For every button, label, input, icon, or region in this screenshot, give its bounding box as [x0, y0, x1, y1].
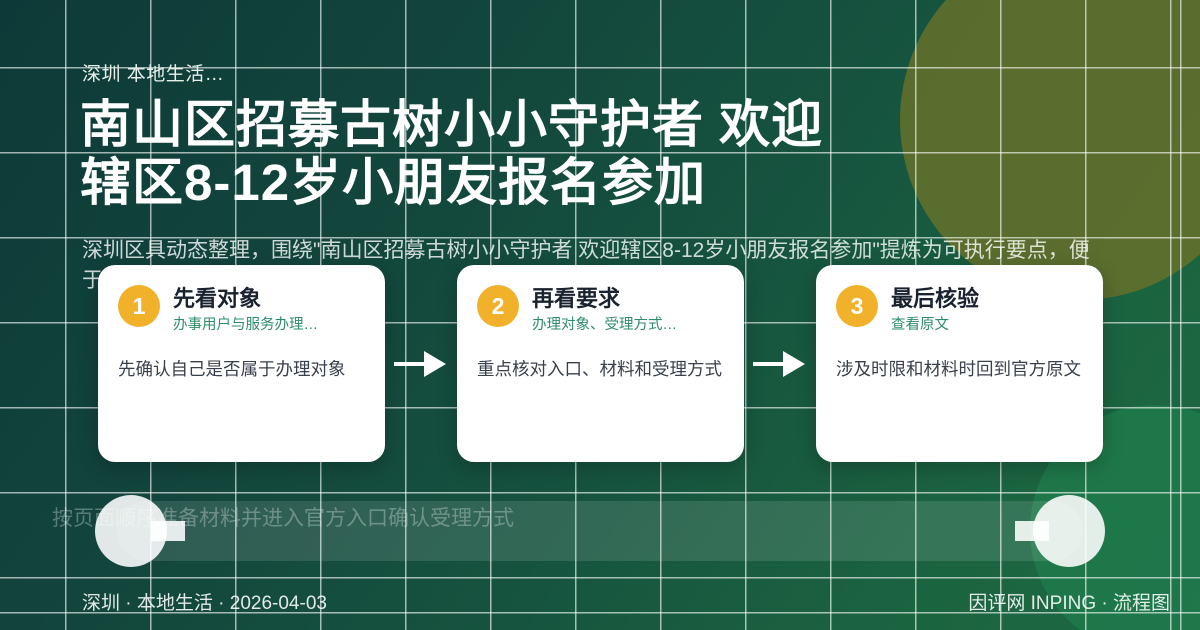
footer-meta-left: 深圳 · 本地生活 · 2026-04-03: [82, 588, 327, 615]
step-number-badge: 1: [118, 285, 160, 327]
step-number-badge: 2: [477, 285, 519, 327]
flow-connector-1: [385, 265, 457, 462]
step-body: 重点核对入口、材料和受理方式: [477, 357, 724, 382]
pill-knob-left: [95, 495, 167, 567]
summary-pill-bar: [95, 495, 1105, 567]
step-title: 先看对象: [173, 286, 318, 312]
step-body: 涉及时限和材料时回到官方原文: [836, 357, 1083, 382]
pill-knob-right: [1033, 495, 1105, 567]
card-heading-group: 最后核验 查看原文: [891, 285, 979, 335]
card-header: 3 最后核验 查看原文: [836, 285, 1083, 335]
card-header: 2 再看要求 办理对象、受理方式…: [477, 285, 724, 335]
arrow-right-icon: [394, 349, 448, 379]
arrow-right-icon: [753, 349, 807, 379]
flow-step-card-1[interactable]: 1 先看对象 办事用户与服务办理… 先确认自己是否属于办理对象: [98, 265, 385, 462]
flow-steps-row: 1 先看对象 办事用户与服务办理… 先确认自己是否属于办理对象 2 再看要求: [98, 265, 1103, 462]
step-title: 再看要求: [532, 286, 677, 312]
page-title: 南山区招募古树小小守护者 欢迎辖区8-12岁小朋友报名参加: [80, 96, 870, 211]
breadcrumb: 深圳 本地生活…: [82, 59, 224, 86]
step-subtitle: 办事用户与服务办理…: [173, 316, 318, 334]
card-heading-group: 再看要求 办理对象、受理方式…: [532, 285, 677, 335]
card-header: 1 先看对象 办事用户与服务办理…: [118, 285, 365, 335]
flow-step-card-3[interactable]: 3 最后核验 查看原文 涉及时限和材料时回到官方原文: [816, 265, 1103, 462]
flow-connector-2: [744, 265, 816, 462]
step-title: 最后核验: [891, 286, 979, 312]
step-number-badge: 3: [836, 285, 878, 327]
step-subtitle: 办理对象、受理方式…: [532, 316, 677, 334]
poster-canvas: 深圳 本地生活… 南山区招募古树小小守护者 欢迎辖区8-12岁小朋友报名参加 深…: [0, 0, 1200, 630]
step-body: 先确认自己是否属于办理对象: [118, 357, 365, 382]
footer-brand-right: 因评网 INPING · 流程图: [968, 588, 1170, 615]
flow-step-card-2[interactable]: 2 再看要求 办理对象、受理方式… 重点核对入口、材料和受理方式: [457, 265, 744, 462]
card-heading-group: 先看对象 办事用户与服务办理…: [173, 285, 318, 335]
pill-track: [117, 501, 1083, 561]
step-subtitle: 查看原文: [891, 316, 979, 334]
